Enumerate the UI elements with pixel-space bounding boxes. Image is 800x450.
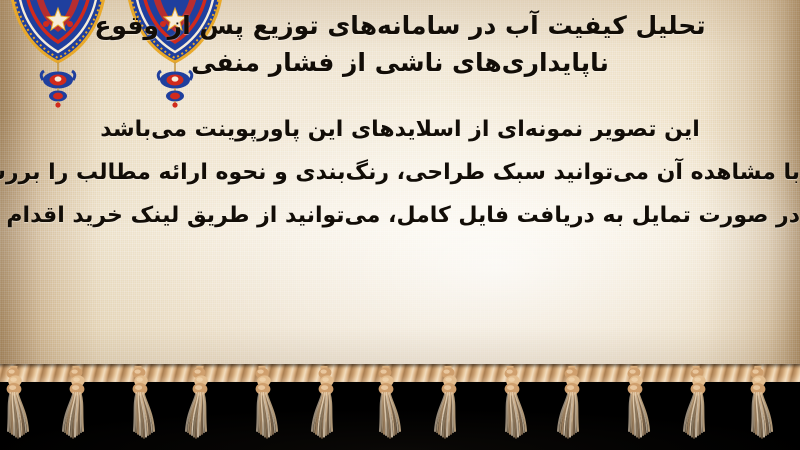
slide-body-line-3: در صورت تمایل به دریافت فایل کامل، می‌تو… — [0, 203, 800, 228]
fringe-tassel — [304, 366, 350, 450]
slide-body-line-2: با مشاهده آن می‌توانید سبک طراحی، رنگ‌بن… — [0, 160, 800, 185]
fringe-tassel — [428, 366, 474, 450]
slide-canvas: تحلیل کیفیت آب در سامانه‌های توزیع پس از… — [0, 0, 800, 450]
slide-title-line-1: تحلیل کیفیت آب در سامانه‌های توزیع پس از… — [0, 11, 800, 40]
slide-body-line-1: این تصویر نمونه‌ای از اسلایدهای این پاور… — [0, 117, 800, 142]
carpet-knotted-fringe — [0, 364, 800, 450]
fringe-tassel — [56, 366, 102, 450]
fringe-tassel — [552, 366, 598, 450]
fringe-tassel — [180, 366, 226, 450]
fringe-tassel — [0, 366, 40, 450]
fringe-tassel — [242, 366, 288, 450]
fringe-tassel — [614, 366, 660, 450]
fringe-tassel — [118, 366, 164, 450]
slide-title-line-2: ناپایداری‌های ناشی از فشار منفی — [0, 48, 800, 77]
fringe-tassel — [490, 366, 536, 450]
fringe-tassel — [366, 366, 412, 450]
fringe-tassel — [676, 366, 722, 450]
fringe-tassel — [738, 366, 784, 450]
